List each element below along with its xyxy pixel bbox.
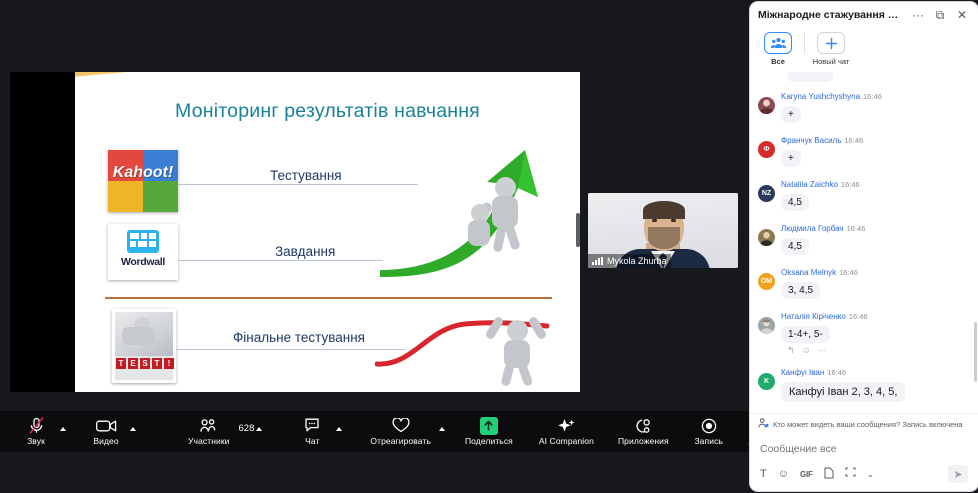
message-sender: Наталія Кіріченко (781, 312, 846, 321)
connector-line-3 (176, 349, 405, 350)
meeting-toolbar: Звук Видео (0, 411, 750, 452)
chat-bubble-icon (304, 417, 320, 434)
plus-icon (817, 32, 845, 54)
slide-row-label-1: Тестування (270, 168, 342, 183)
message-reaction-bar: ↰ ☺ ··· (787, 345, 970, 356)
test-word-blocks: TEST! (116, 358, 174, 369)
message-sender: Людмила Горбач (781, 224, 844, 233)
audio-caret-icon[interactable] (60, 427, 66, 431)
avatar: Ф (758, 141, 775, 158)
ai-sparkle-icon (557, 417, 576, 434)
people-group-icon (764, 32, 792, 54)
zoom-meeting-window: Моніторинг результатів навчання Kahoot! … (0, 0, 978, 493)
message-sender: Oksana Melnyk (781, 268, 836, 277)
active-speaker-thumbnail[interactable]: Mykola Zhurba (588, 193, 738, 268)
slide-row-label-2: Завдання (275, 244, 335, 259)
record-label: Запись (694, 436, 723, 446)
record-button[interactable]: Запись (687, 411, 731, 452)
avatar: K (758, 373, 775, 390)
gif-icon[interactable]: GIF (800, 470, 813, 479)
participants-caret-icon[interactable] (256, 427, 262, 431)
chat-label: Чат (305, 436, 319, 446)
message-bubble: + (781, 106, 801, 123)
react-button[interactable]: Отреагировать (364, 411, 437, 452)
react-caret-icon[interactable] (439, 427, 445, 431)
message-sender: Канфуі Іван (781, 368, 824, 377)
green-growth-arrow-icon (375, 142, 550, 277)
audio-button[interactable]: Звук (14, 411, 58, 452)
message-time: 16:46 (839, 268, 858, 277)
record-icon (701, 417, 717, 434)
tab-new-chat-label: Новый чат (813, 57, 850, 66)
slide-title: Моніторинг результатів навчання (75, 100, 580, 123)
chat-privacy-notice[interactable]: Кто может видеть ваши сообщения? Запись … (750, 413, 978, 433)
message-time: 16:46 (841, 180, 860, 189)
message-time: 16:46 (844, 136, 863, 145)
ai-companion-button[interactable]: AI Companion (533, 411, 600, 452)
message-time: 16:46 (849, 312, 868, 321)
participants-button[interactable]: Участники (182, 411, 236, 452)
chat-panel-title: Міжнародне стажування CUP-2026 (758, 9, 904, 21)
wordwall-logo: Wordwall (108, 224, 178, 280)
apps-icon (634, 417, 652, 434)
chat-panel: Міжнародне стажування CUP-2026 ··· ⧉ ✕ (750, 2, 978, 491)
slide-divider (105, 297, 552, 299)
message-bubble: + (781, 150, 801, 167)
apps-label: Приложения (618, 436, 669, 446)
tab-all-label: Все (771, 57, 785, 66)
message-time: 16:46 (847, 224, 866, 233)
chat-caret-icon[interactable] (336, 427, 342, 431)
emoji-icon[interactable]: ☺ (778, 468, 789, 480)
list-item[interactable]: Людмила Горбач16:46 4,5 (758, 218, 970, 255)
more-dots-icon[interactable]: ··· (818, 345, 827, 356)
list-item[interactable]: Karyna Yushchyshyna16:46 + (758, 86, 970, 123)
tabs-divider (804, 32, 805, 54)
format-text-icon[interactable]: T (760, 468, 767, 480)
share-screen-button[interactable]: Поделиться (459, 411, 519, 452)
connector-line-2 (178, 260, 383, 261)
chat-scrollbar[interactable] (974, 322, 977, 382)
stage-scrollbar[interactable] (576, 213, 580, 247)
privacy-person-icon (758, 418, 769, 430)
speaker-name: Mykola Zhurba (607, 256, 667, 266)
avatar: OM (758, 273, 775, 290)
composer-toolbar: T ☺ GIF ⌄ ➤ (750, 459, 978, 491)
avatar (758, 229, 775, 246)
avatar (758, 97, 775, 114)
chat-tabs: Все Новый чат (750, 28, 978, 72)
video-caret-icon[interactable] (130, 427, 136, 431)
list-item[interactable]: Ф Франчук Василь16:46 + (758, 130, 970, 167)
chat-button[interactable]: Чат (290, 411, 334, 452)
file-icon[interactable] (824, 467, 834, 482)
video-button[interactable]: Видео (84, 411, 128, 452)
message-time: 16:46 (827, 368, 846, 377)
share-label: Поделиться (465, 436, 513, 446)
share-screen-icon (480, 417, 498, 434)
message-bubble: 4,5 (781, 238, 809, 255)
camera-icon (96, 417, 117, 434)
audio-label: Звук (27, 436, 45, 446)
avatar: NZ (758, 185, 775, 202)
speaker-name-bar: Mykola Zhurba (588, 254, 671, 268)
message-bubble: 4,5 (781, 194, 809, 211)
test-image: TEST! (112, 309, 176, 383)
participants-count: 628 (239, 423, 255, 434)
tab-new-chat[interactable]: Новый чат (813, 32, 849, 66)
participants-icon (200, 417, 217, 434)
ai-companion-label: AI Companion (539, 436, 594, 446)
more-options-icon[interactable]: ··· (910, 7, 926, 23)
privacy-notice-text: Кто может видеть ваши сообщения? Запись … (773, 420, 963, 429)
chevron-down-icon[interactable]: ⌄ (867, 469, 875, 480)
message-time: 16:46 (863, 92, 882, 101)
list-item[interactable]: Наталія Кіріченко16:46 1-4+, 5- (758, 306, 970, 343)
message-sender: Nataliia Zaichko (781, 180, 838, 189)
shared-screen-area[interactable]: Моніторинг результатів навчання Kahoot! … (10, 72, 580, 392)
wordwall-logo-text: Wordwall (108, 256, 178, 268)
screenshot-icon[interactable] (845, 467, 856, 481)
apps-button[interactable]: Приложения (612, 411, 675, 452)
participants-label: Участники (188, 436, 230, 446)
scrolled-message-partial (787, 72, 833, 82)
chat-panel-header: Міжнародне стажування CUP-2026 ··· ⧉ ✕ (750, 2, 978, 28)
chat-composer[interactable]: Сообщение все (750, 433, 978, 459)
video-label: Видео (93, 436, 118, 446)
slide-row-label-3: Фінальне тестування (233, 330, 365, 345)
kahoot-logo: Kahoot! (108, 150, 178, 212)
heart-icon (392, 417, 410, 434)
reply-icon[interactable]: ↰ (787, 345, 795, 356)
microphone-muted-icon (29, 417, 44, 434)
react-label: Отреагировать (370, 436, 431, 446)
message-bubble: 1-4+, 5- (781, 326, 830, 343)
popout-icon[interactable]: ⧉ (932, 7, 948, 23)
send-icon[interactable]: ➤ (948, 465, 968, 483)
presentation-slide: Моніторинг результатів навчання Kahoot! … (75, 72, 580, 392)
kahoot-logo-text: Kahoot! (108, 164, 178, 182)
list-item[interactable]: NZ Nataliia Zaichko16:46 4,5 (758, 174, 970, 211)
meeting-stage: Моніторинг результатів навчання Kahoot! … (0, 0, 750, 452)
message-sender: Karyna Yushchyshyna (781, 92, 860, 101)
message-sender: Франчук Василь (781, 136, 841, 145)
wordwall-grid-icon (127, 230, 159, 253)
avatar (758, 317, 775, 334)
signal-bars-icon (592, 257, 603, 265)
message-bubble: Канфуі Іван 2, 3, 4, 5, (781, 382, 905, 402)
tab-all[interactable]: Все (760, 32, 796, 66)
chat-input-placeholder: Сообщение все (760, 443, 837, 455)
list-item[interactable]: K Канфуі Іван16:46 Канфуі Іван 2, 3, 4, … (758, 362, 970, 402)
close-icon[interactable]: ✕ (954, 7, 970, 23)
emoji-reaction-icon[interactable]: ☺ (802, 345, 811, 356)
message-bubble: 3, 4,5 (781, 282, 820, 299)
list-item[interactable]: OM Oksana Melnyk16:46 3, 4,5 (758, 262, 970, 299)
chat-message-list[interactable]: Karyna Yushchyshyna16:46 + Ф Франчук Вас… (750, 72, 978, 413)
